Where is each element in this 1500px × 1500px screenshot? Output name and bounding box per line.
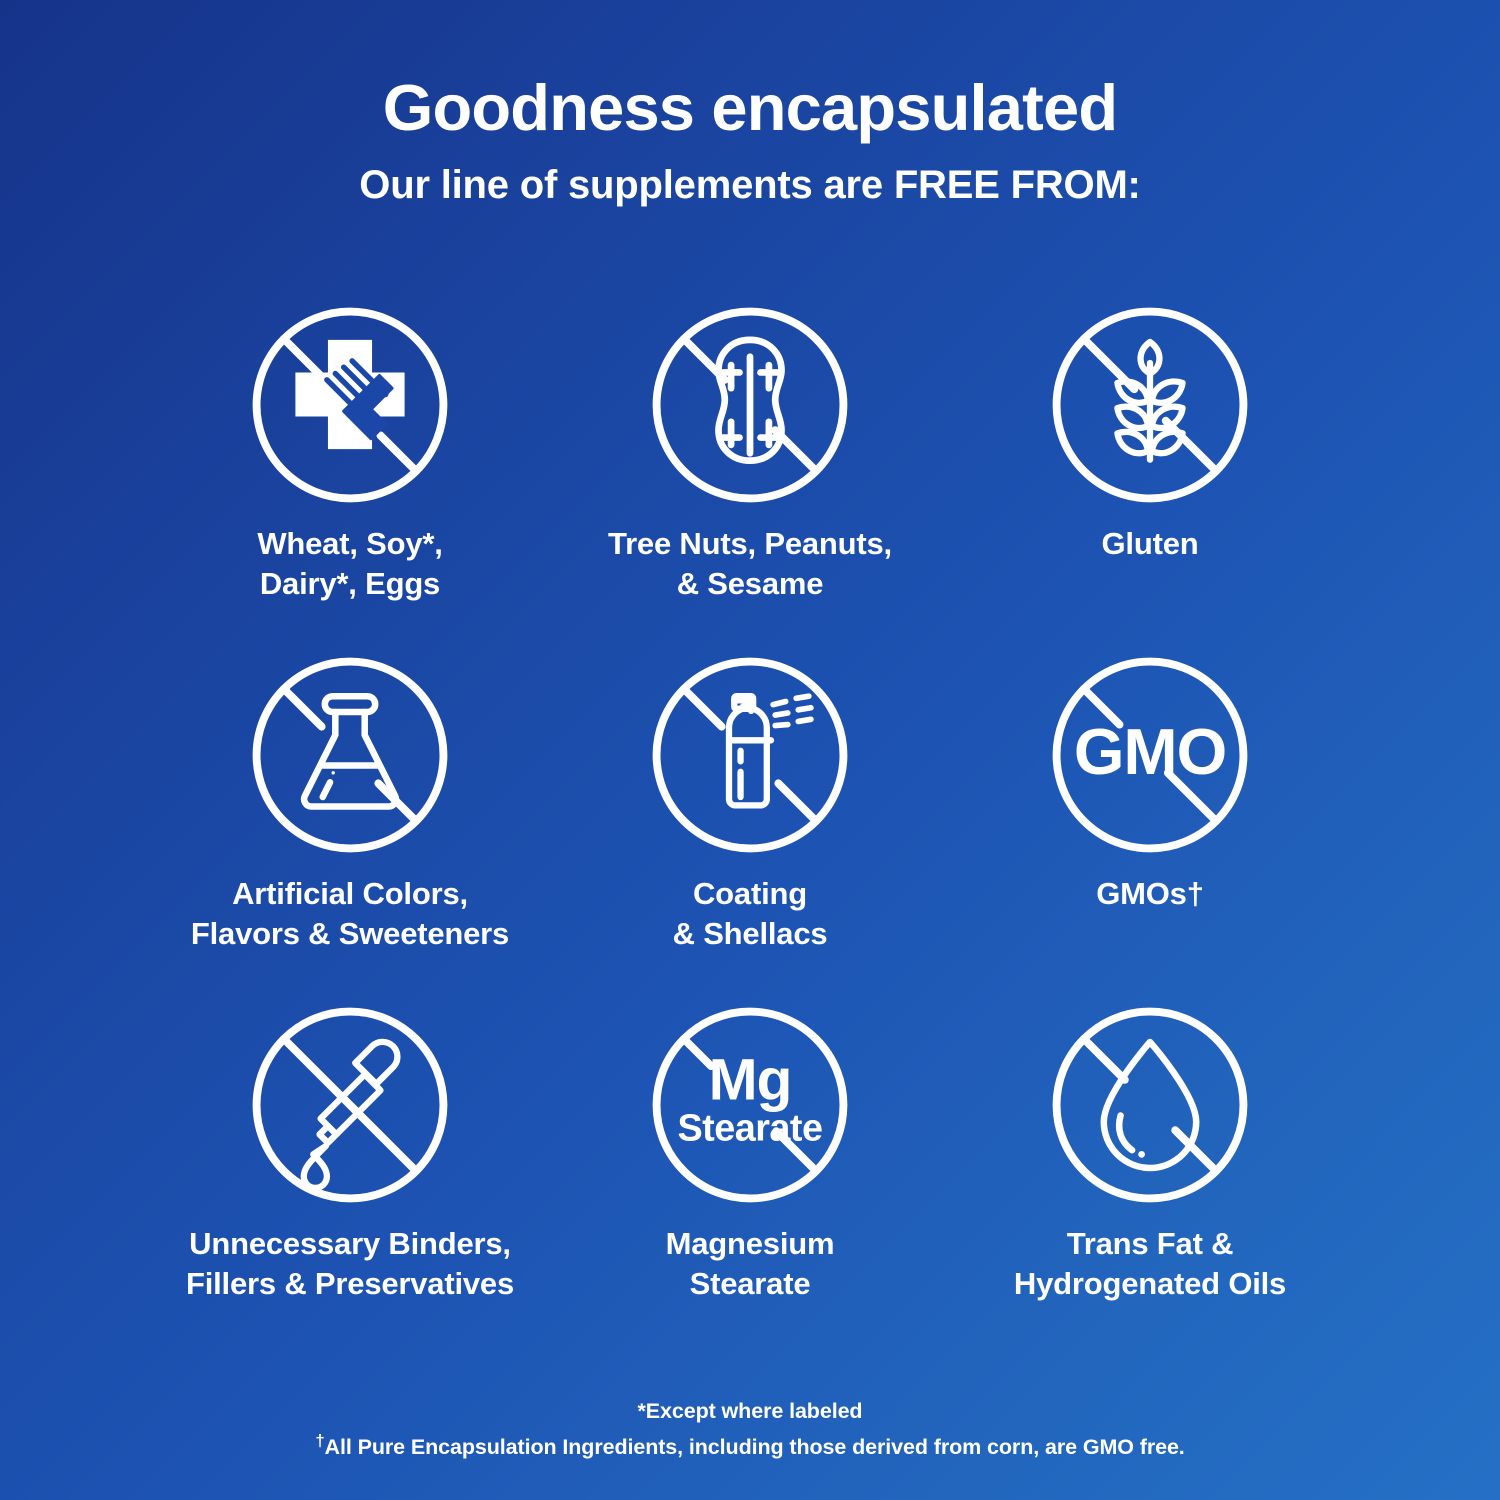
grid-cell-label: Tree Nuts, Peanuts, & Sesame [608, 524, 892, 603]
stearate-icon-text: Stearate [678, 1108, 823, 1150]
grid-cell: Gluten [950, 300, 1350, 650]
grid-cell-label: Coating & Shellacs [673, 874, 828, 953]
grid-cell: Mg Stearate Magnesium Stearate [550, 1000, 950, 1350]
no-magnesium-stearate-icon: Mg Stearate [645, 1000, 855, 1210]
grid-cell: GMO GMOs† [950, 650, 1350, 1000]
grid-cell-label: Trans Fat & Hydrogenated Oils [1014, 1224, 1286, 1303]
footnote-dagger-text: All Pure Encapsulation Ingredients, incl… [325, 1435, 1185, 1459]
no-gluten-wheat-stalk-icon [1045, 300, 1255, 510]
header: Goodness encapsulated Our line of supple… [0, 74, 1500, 208]
page-subtitle: Our line of supplements are FREE FROM: [0, 163, 1500, 208]
grid-cell-label: Unnecessary Binders, Fillers & Preservat… [186, 1224, 514, 1303]
footnotes: *Except where labeled †All Pure Encapsul… [0, 1395, 1500, 1465]
page-title: Goodness encapsulated [0, 74, 1500, 143]
grid-cell: Artificial Colors, Flavors & Sweeteners [150, 650, 550, 1000]
no-oil-droplet-icon [1045, 1000, 1255, 1210]
grid-cell-label: Artificial Colors, Flavors & Sweeteners [191, 874, 509, 953]
no-peanut-icon [645, 300, 855, 510]
footnote-dagger-marker: † [315, 1431, 324, 1450]
grid-cell-label: Magnesium Stearate [666, 1224, 835, 1303]
no-spray-can-icon [645, 650, 855, 860]
grid-cell-label: Wheat, Soy*, Dairy*, Eggs [257, 524, 442, 603]
gmo-icon-text: GMO [1074, 715, 1226, 788]
grid-cell: Trans Fat & Hydrogenated Oils [950, 1000, 1350, 1350]
no-gmo-icon: GMO [1045, 650, 1255, 860]
no-dropper-icon [245, 1000, 455, 1210]
grid-cell: Wheat, Soy*, Dairy*, Eggs [150, 300, 550, 650]
grid-cell-label: GMOs† [1096, 874, 1204, 914]
grid-cell: Unnecessary Binders, Fillers & Preservat… [150, 1000, 550, 1350]
footnote-dagger: †All Pure Encapsulation Ingredients, inc… [0, 1428, 1500, 1464]
footnote-asterisk: *Except where labeled [0, 1395, 1500, 1428]
grid-cell-label: Gluten [1102, 524, 1199, 564]
grid-cell: Coating & Shellacs [550, 650, 950, 1000]
no-flask-icon [245, 650, 455, 860]
mg-icon-text: Mg [709, 1048, 792, 1113]
poster-root: Goodness encapsulated Our line of supple… [0, 0, 1500, 1500]
free-from-grid: Wheat, Soy*, Dairy*, Eggs [150, 300, 1350, 1350]
grid-cell: Tree Nuts, Peanuts, & Sesame [550, 300, 950, 650]
no-wheat-soy-dairy-eggs-icon [245, 300, 455, 510]
